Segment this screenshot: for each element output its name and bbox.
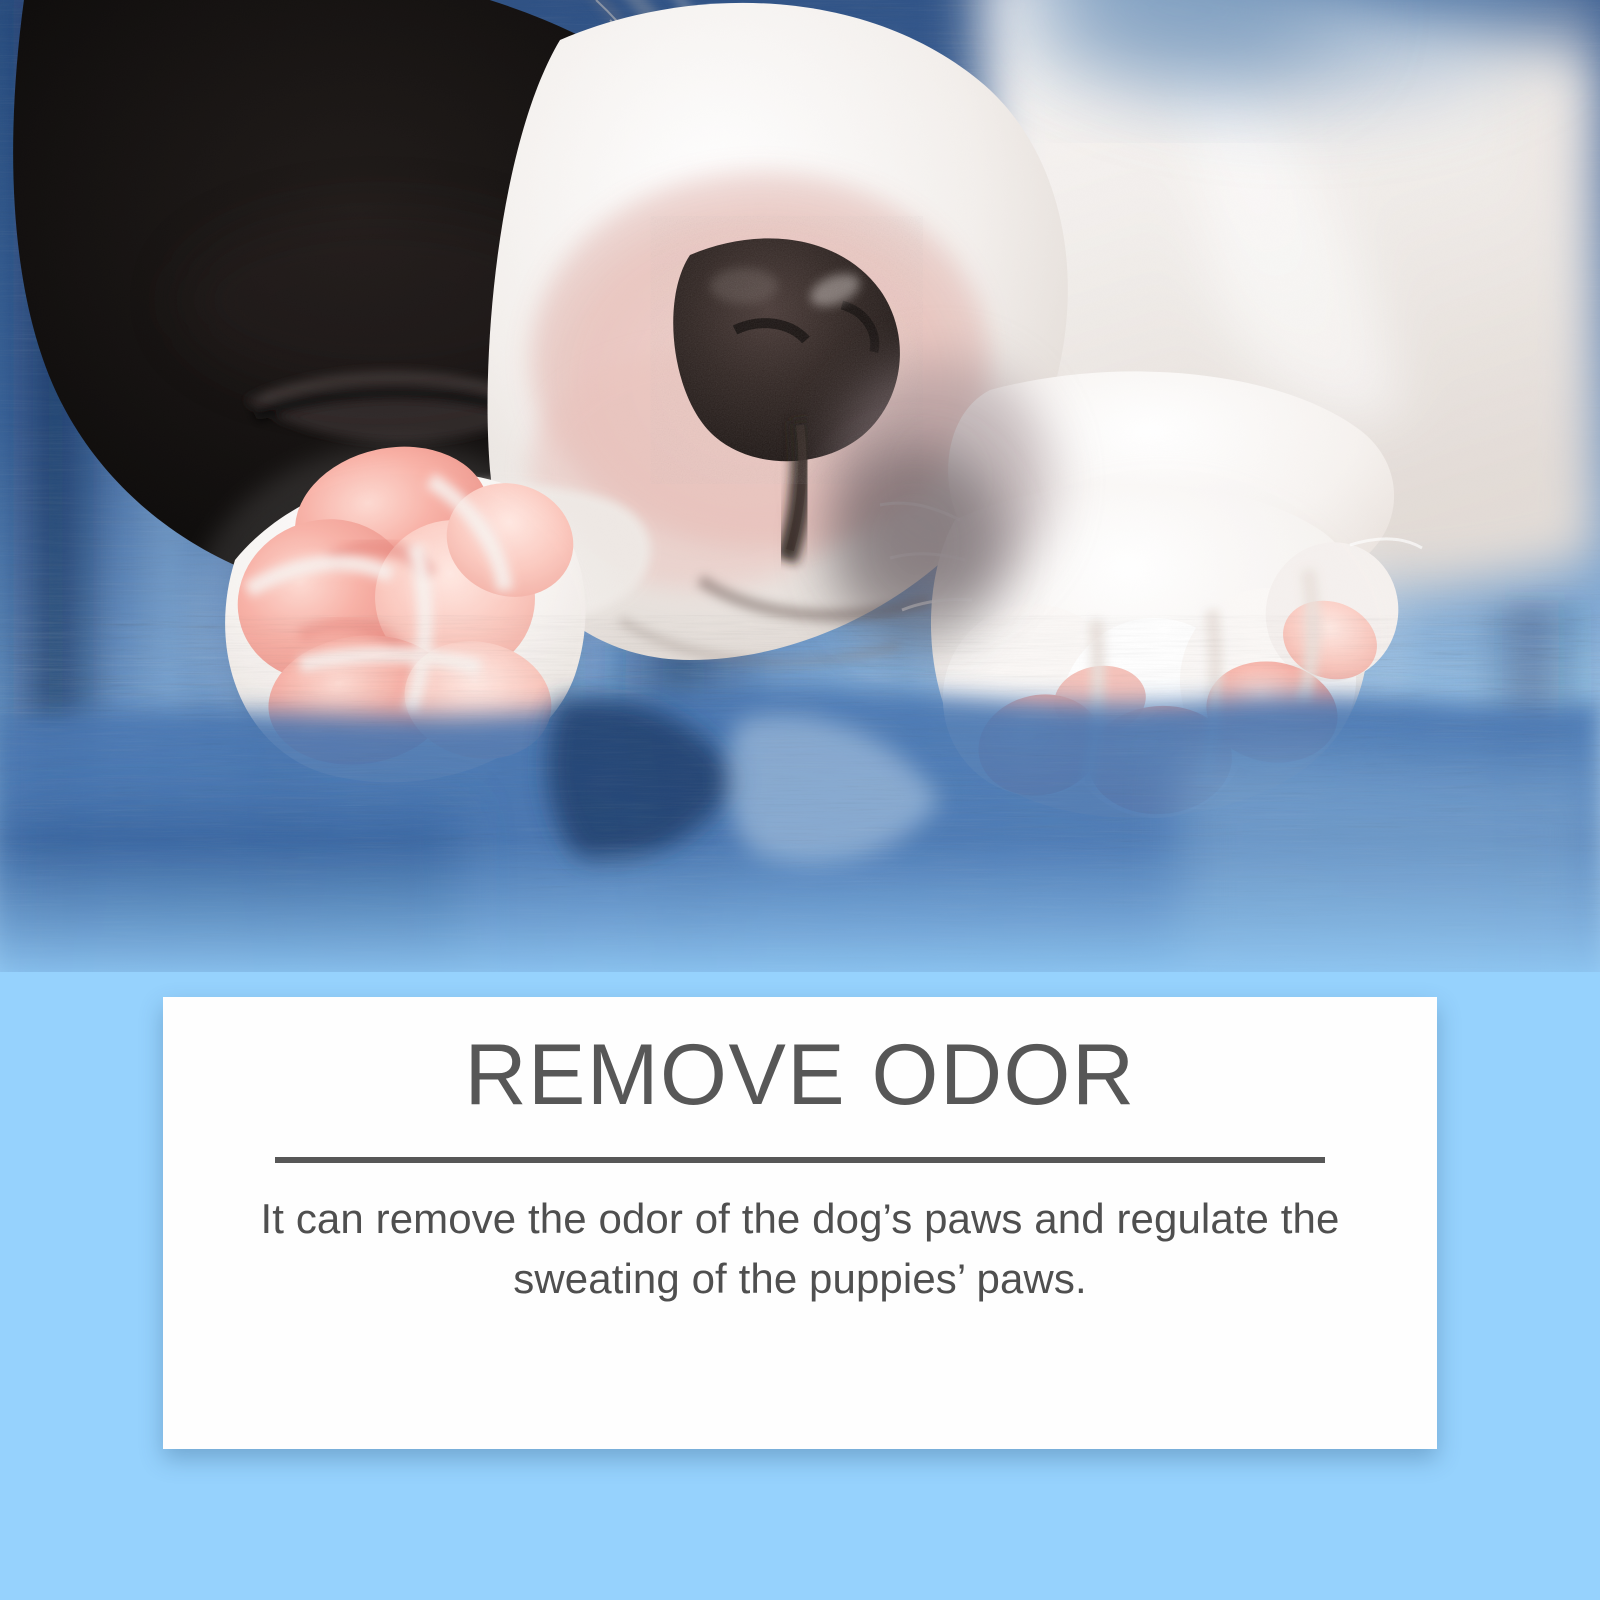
puppy-photo-illustration [0, 0, 1600, 1000]
promo-banner: REMOVE ODOR It can remove the odor of th… [0, 0, 1600, 1600]
page-title: REMOVE ODOR [163, 1029, 1437, 1122]
description-text: It can remove the odor of the dog’s paws… [199, 1189, 1401, 1308]
title-divider [275, 1157, 1325, 1163]
puppy-photo [0, 0, 1600, 1000]
text-card: REMOVE ODOR It can remove the odor of th… [163, 997, 1437, 1449]
